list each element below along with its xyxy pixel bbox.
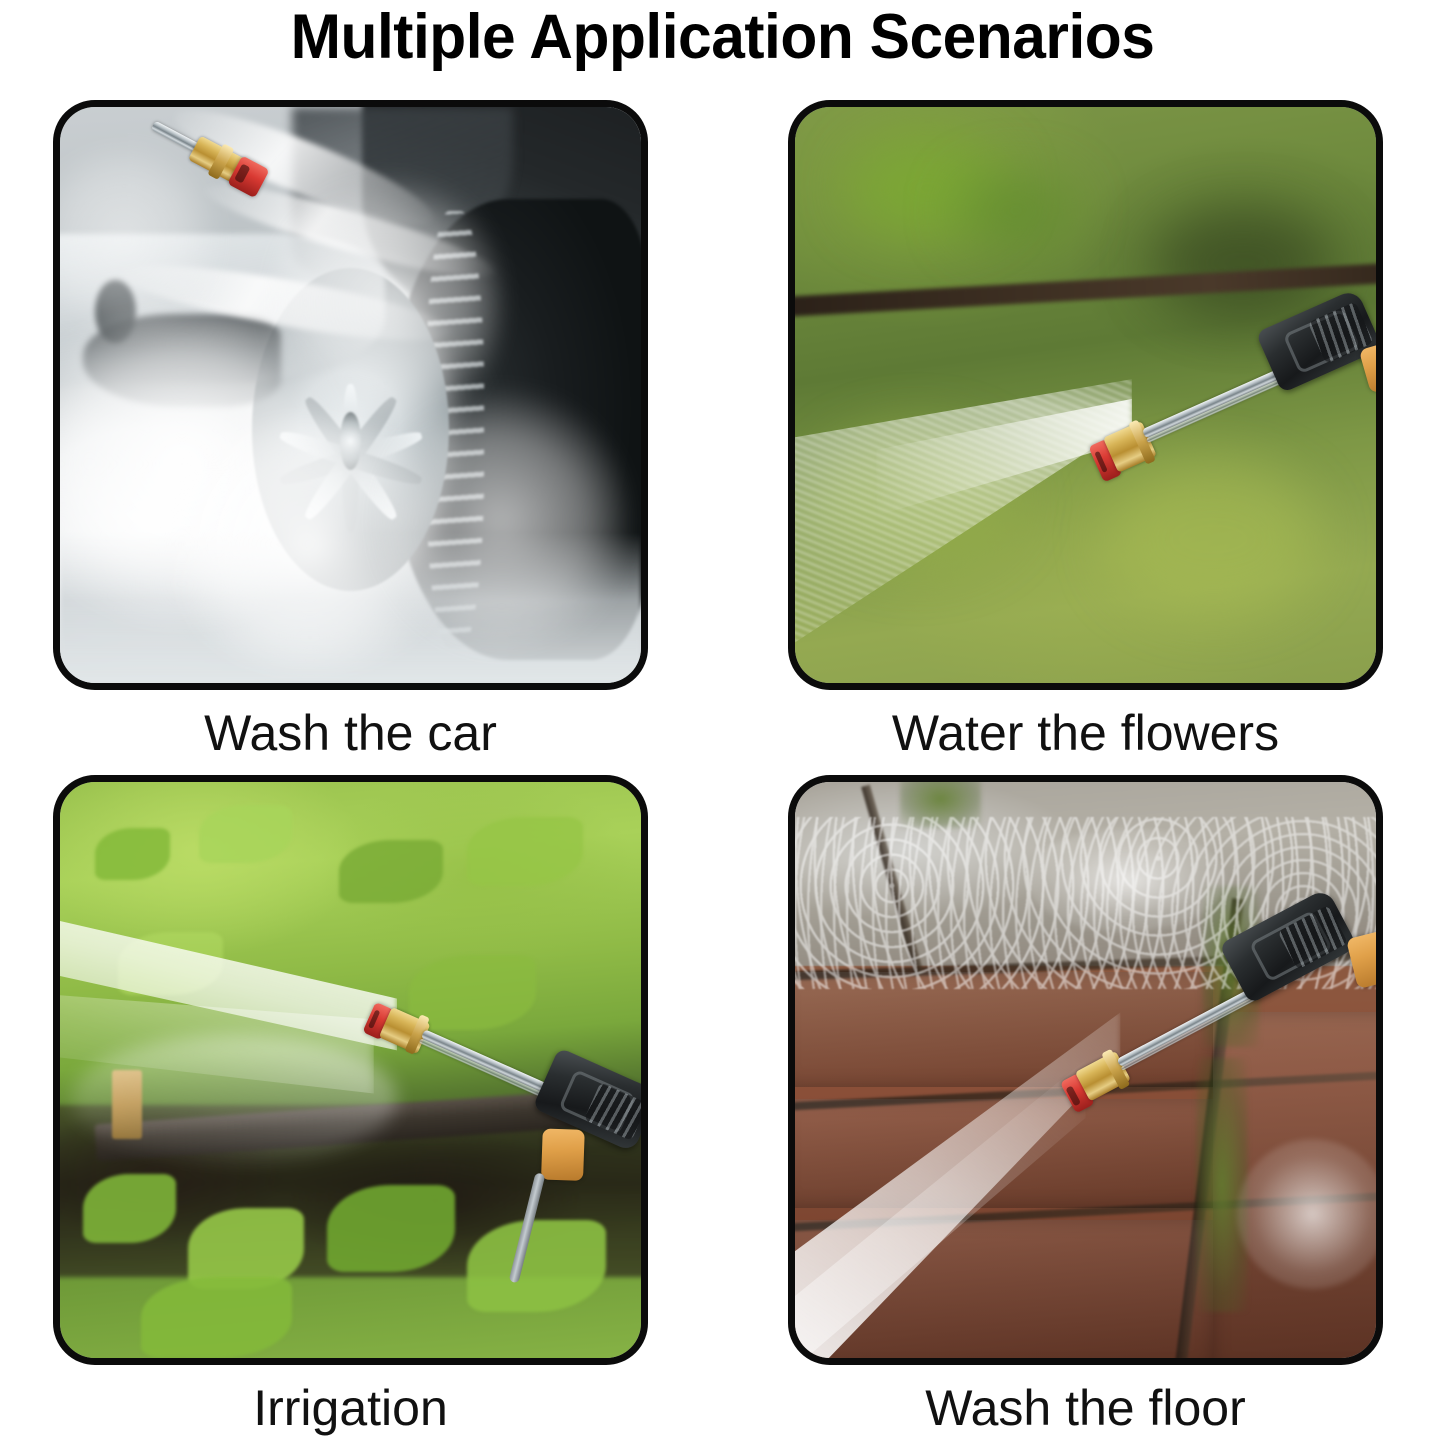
scenario-grid: Wash the car [0,100,1445,1445]
scenario-card-wash-the-car: Wash the car [53,100,648,762]
leaf-cluster [141,1277,292,1358]
scenario-caption-wash-the-car: Wash the car [53,704,648,762]
scenario-caption-wash-the-floor: Wash the floor [788,1379,1383,1437]
scenario-photo-irrigation [53,775,648,1365]
garden-hose [509,1172,545,1283]
leaf-cluster [467,817,583,886]
page-title: Multiple Application Scenarios [29,2,1416,72]
scenario-photo-wash-the-floor [788,775,1383,1365]
lance-tube [1141,366,1288,439]
photo-content-flowers [795,107,1376,683]
scenario-photo-water-the-flowers [788,100,1383,690]
lance-tube-lower [1145,375,1289,443]
scenario-card-wash-the-floor: Wash the floor [788,775,1383,1437]
leaf-cluster [83,1174,176,1243]
wet-sheen [1237,1139,1376,1289]
photo-content-irrigation [60,782,641,1358]
leaf-cluster [199,805,292,863]
orange-hose-connector [1346,930,1376,989]
lance-tube [421,1030,556,1097]
scenario-photo-wash-the-car [53,100,648,690]
lance-tube-lower [1121,992,1263,1070]
photo-content-car [60,107,641,683]
leaf-cluster [95,828,171,880]
scenario-card-irrigation: Irrigation [53,775,648,1437]
orange-hose-connector [541,1129,585,1181]
lance-tube-lower [419,1039,552,1102]
lance-tube [1116,985,1260,1067]
foliage-blur [958,176,1074,245]
photo-content-floor [795,782,1376,1358]
scenario-caption-irrigation: Irrigation [53,1379,648,1437]
scenario-caption-water-the-flowers: Water the flowers [788,704,1383,762]
water-mist [374,383,630,659]
scenario-card-water-the-flowers: Water the flowers [788,100,1383,762]
leaf-cluster [339,840,444,903]
